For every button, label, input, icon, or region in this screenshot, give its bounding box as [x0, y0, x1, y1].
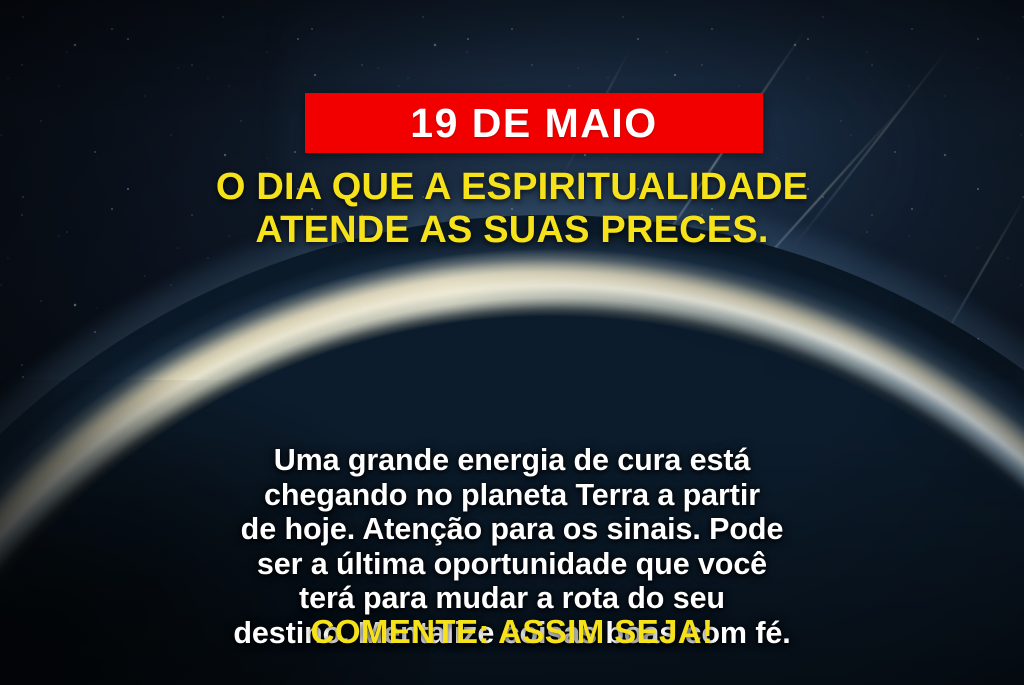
poster-canvas: 19 DE MAIO O DIA QUE A ESPIRITUALIDADE A…: [0, 0, 1024, 685]
body-line-4: ser a última oportunidade que você: [34, 547, 990, 582]
date-banner: 19 DE MAIO: [305, 93, 763, 153]
call-to-action-label: COMENTE: ASSIM SEJA!: [311, 613, 714, 650]
body-line-5: terá para mudar a rota do seu: [34, 581, 990, 616]
body-line-1: Uma grande energia de cura está: [34, 443, 990, 478]
date-banner-label: 19 DE MAIO: [410, 103, 657, 144]
headline-line-2: ATENDE AS SUAS PRECES.: [48, 209, 976, 252]
body-line-2: chegando no planeta Terra a partir: [34, 478, 990, 513]
call-to-action: COMENTE: ASSIM SEJA!: [0, 615, 1024, 648]
headline-line-1: O DIA QUE A ESPIRITUALIDADE: [48, 166, 976, 209]
body-line-3: de hoje. Atenção para os sinais. Pode: [34, 512, 990, 547]
headline: O DIA QUE A ESPIRITUALIDADE ATENDE AS SU…: [0, 166, 1024, 251]
poster-content: 19 DE MAIO O DIA QUE A ESPIRITUALIDADE A…: [0, 0, 1024, 685]
